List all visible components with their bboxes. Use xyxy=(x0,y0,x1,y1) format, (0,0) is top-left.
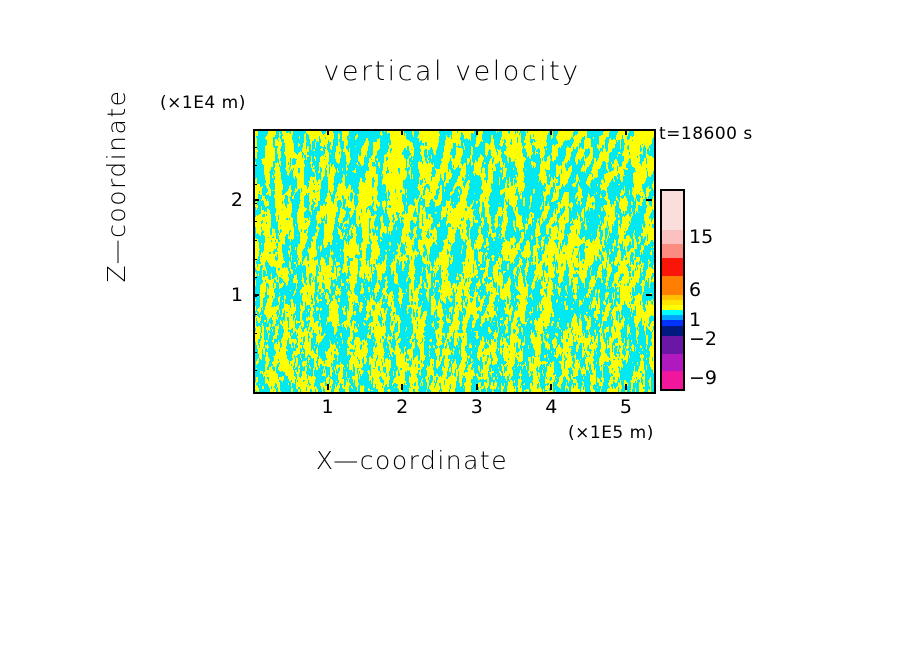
y-axis-tick-label: 1 xyxy=(221,284,243,306)
colorbar-tick-label: 15 xyxy=(689,226,713,248)
x-axis-tick-label: 4 xyxy=(545,396,557,418)
x-axis-label: X—coordinate xyxy=(0,446,904,475)
colorbar-tick-label: 6 xyxy=(689,279,701,301)
x-axis-tick-label: 5 xyxy=(620,396,632,418)
colorbar-band xyxy=(662,326,683,336)
y-axis-unit-label: (×1E4 m) xyxy=(160,93,246,113)
x-axis-unit-label: (×1E5 m) xyxy=(568,423,654,443)
x-axis-tick xyxy=(327,129,329,135)
y-axis-minor-tick xyxy=(253,352,257,353)
x-axis-tick xyxy=(401,129,403,135)
x-axis-tick xyxy=(625,129,627,135)
y-axis-minor-tick xyxy=(253,165,257,166)
y-axis-minor-tick xyxy=(253,333,257,334)
plot-area xyxy=(253,129,656,394)
x-axis-tick xyxy=(476,384,478,390)
y-axis-minor-tick xyxy=(253,259,257,260)
time-annotation: t=18600 s xyxy=(659,124,753,144)
y-axis-minor-tick xyxy=(253,277,257,278)
x-axis-tick-label: 3 xyxy=(471,396,483,418)
y-axis-label: Z—coordinate xyxy=(102,86,131,286)
y-axis-minor-tick xyxy=(253,221,257,222)
y-axis-minor-tick xyxy=(253,314,257,315)
page-title: vertical velocity xyxy=(0,56,904,87)
colorbar-band xyxy=(662,336,683,354)
colorbar-band xyxy=(662,354,683,371)
colorbar xyxy=(660,189,685,391)
colorbar-tick-label: −2 xyxy=(689,328,717,350)
x-axis-tick xyxy=(401,384,403,390)
colorbar-band xyxy=(662,230,683,244)
x-axis-tick xyxy=(550,384,552,390)
colorbar-band xyxy=(662,191,683,230)
y-axis-tick-label: 2 xyxy=(221,189,243,211)
y-axis-minor-tick xyxy=(253,203,257,204)
y-axis-tick xyxy=(253,199,259,201)
colorbar-tick-label: −9 xyxy=(689,367,717,389)
y-axis-minor-tick xyxy=(253,370,257,371)
colorbar-band xyxy=(662,371,683,389)
x-axis-tick-label: 2 xyxy=(396,396,408,418)
x-axis-tick xyxy=(327,384,329,390)
colorbar-band xyxy=(662,244,683,258)
vertical-velocity-field xyxy=(255,131,654,392)
y-axis-minor-tick xyxy=(253,184,257,185)
y-axis-tick xyxy=(646,199,652,201)
y-axis-minor-tick xyxy=(253,147,257,148)
y-axis-tick xyxy=(646,294,652,296)
colorbar-band xyxy=(662,276,683,294)
y-axis-minor-tick xyxy=(253,296,257,297)
colorbar-band xyxy=(662,258,683,276)
x-axis-tick-label: 1 xyxy=(322,396,334,418)
x-axis-tick xyxy=(476,129,478,135)
x-axis-tick xyxy=(550,129,552,135)
y-axis-minor-tick xyxy=(253,240,257,241)
x-axis-tick xyxy=(625,384,627,390)
